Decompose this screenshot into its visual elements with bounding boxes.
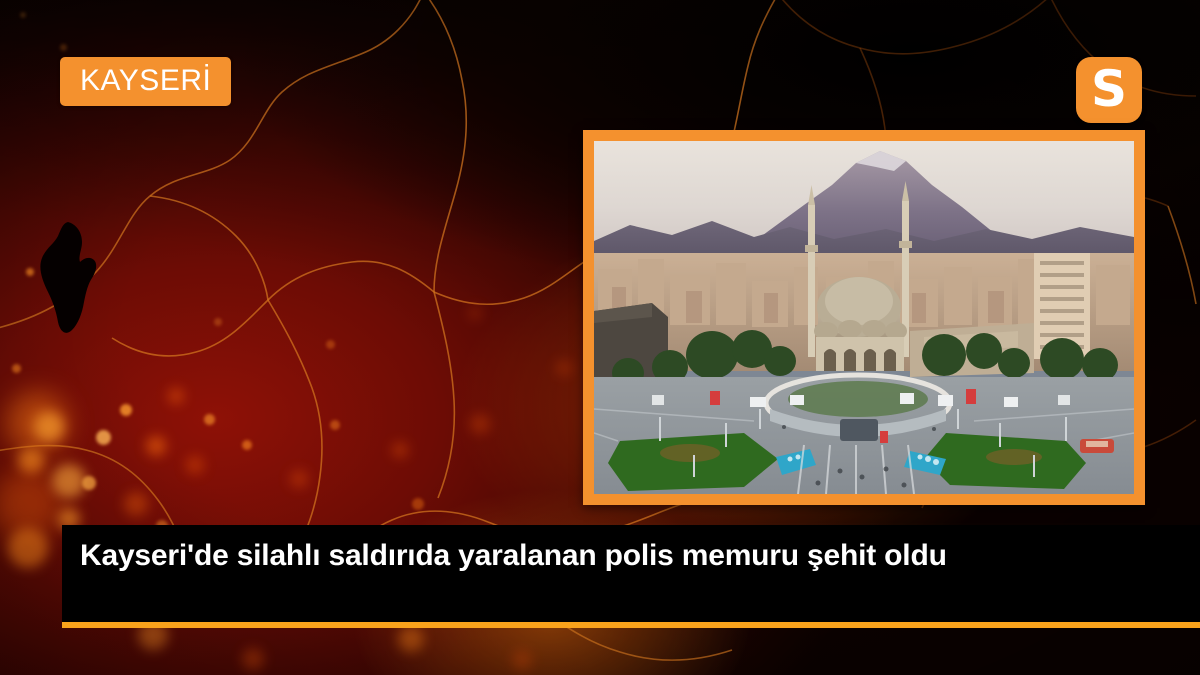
photo-kayseri-square: [594, 141, 1134, 494]
headline-text: Kayseri'de silahlı saldırıda yaralanan p…: [80, 537, 1176, 574]
location-badge: KAYSERİ: [60, 57, 231, 106]
brand-logo[interactable]: S: [1076, 57, 1142, 123]
accent-rule: [62, 622, 1200, 628]
news-card: KAYSERİ S: [0, 0, 1200, 675]
photo-frame: [583, 130, 1145, 505]
brand-logo-letter: S: [1091, 64, 1127, 114]
headline-bar: Kayseri'de silahlı saldırıda yaralanan p…: [62, 525, 1200, 622]
